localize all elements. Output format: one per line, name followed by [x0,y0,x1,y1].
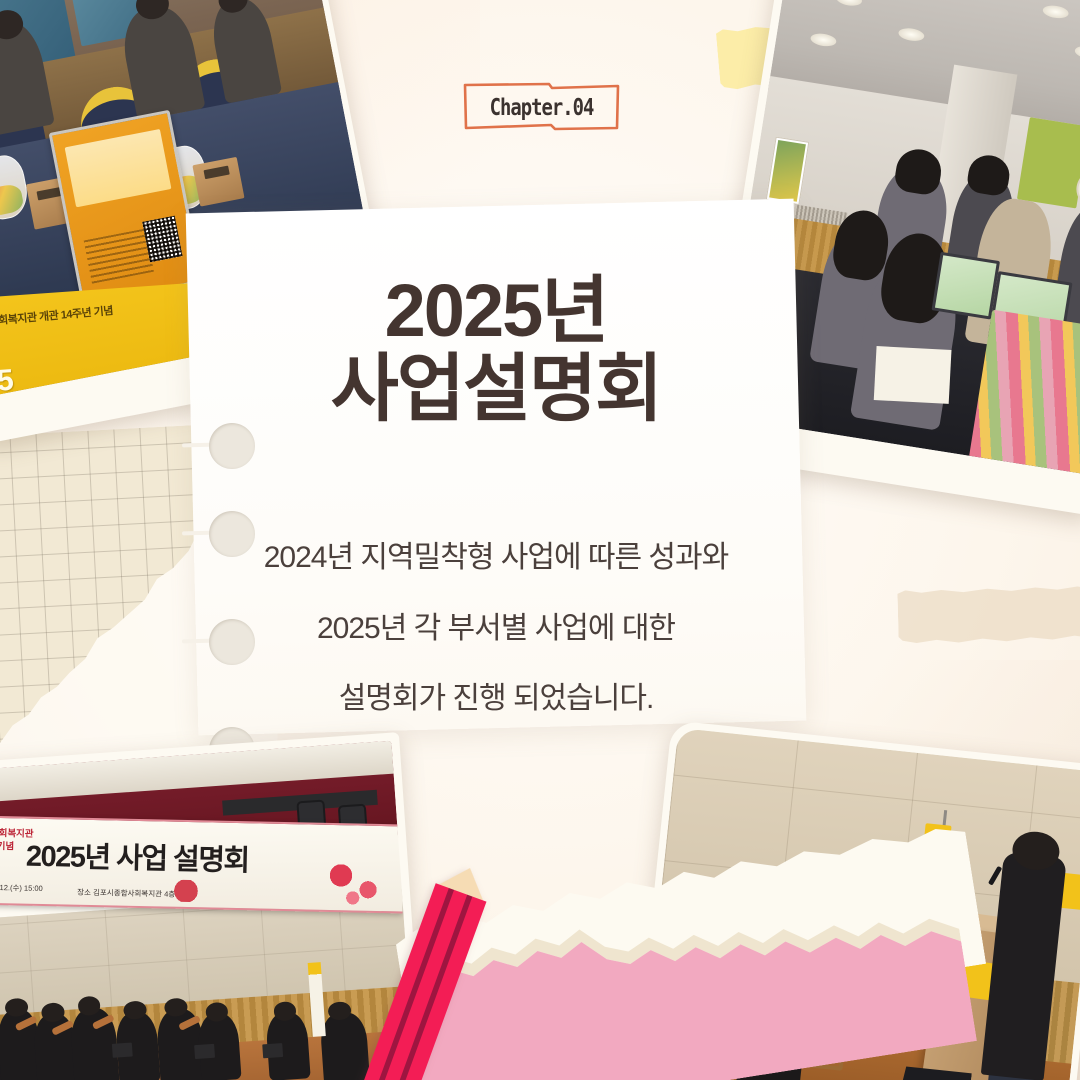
p3-music-stand [194,1044,215,1059]
body-text-line-2: 2025년 각 부서별 사업에 대한 [192,594,800,665]
binder-ring-0 [209,423,255,469]
page-title-line-2: 사업설명회 [192,350,800,428]
chapter-badge: Chapter.04 [463,81,620,134]
body-text-line-1: 2024년 지역밀착형 사업에 따른 성과와 [192,523,800,594]
p1-banner-small-text: 김포시종합사회복지관 개관 14주년 기념 [0,302,114,333]
p2-laptop [931,252,1000,320]
p3-banner-small-line-2: 개관 14주년 기념 [0,840,15,852]
p2-registration-paper [874,346,952,404]
page-title: 2025년 사업설명회 [192,272,800,429]
poster-canvas: 김포시종합사회복지관 개관 14주년 기념 2025 [0,0,1080,1080]
body-text-line-3: 설명회가 진행 되었습니다. [192,664,800,735]
p3-music-stand [262,1043,283,1058]
photo-bottom-left: 김포시종합사회복지관 개관 14주년 기념 2025년 사업 설명회 일시 20… [0,732,428,1080]
p1-table-sign-text [83,228,153,283]
beige-highlighter-stroke [897,585,1080,644]
p3-banner-date: 일시 2025. 2. 12.(수) 15:00 [0,881,43,894]
p1-banner-big-text: 2025 [0,364,14,398]
p3-banner-logo [172,880,220,903]
page-title-line-1: 2025년 [192,272,800,350]
chapter-badge-label: Chapter.04 [477,81,606,134]
p3-banner-heart-graphic [318,854,395,908]
p3-music-stand [112,1042,133,1057]
p1-table-sign-title [64,129,172,208]
photo-bottom-left-image: 김포시종합사회복지관 개관 14주년 기념 2025년 사업 설명회 일시 20… [0,741,417,1080]
body-text: 2024년 지역밀착형 사업에 따른 성과와 2025년 각 부서별 사업에 대… [192,523,800,735]
p3-banner-big-text: 2025년 사업 설명회 [26,832,250,879]
p3-stage-banner: 김포시종합사회복지관 개관 14주년 기념 2025년 사업 설명회 일시 20… [0,815,405,914]
p1-gift-box [192,157,244,207]
